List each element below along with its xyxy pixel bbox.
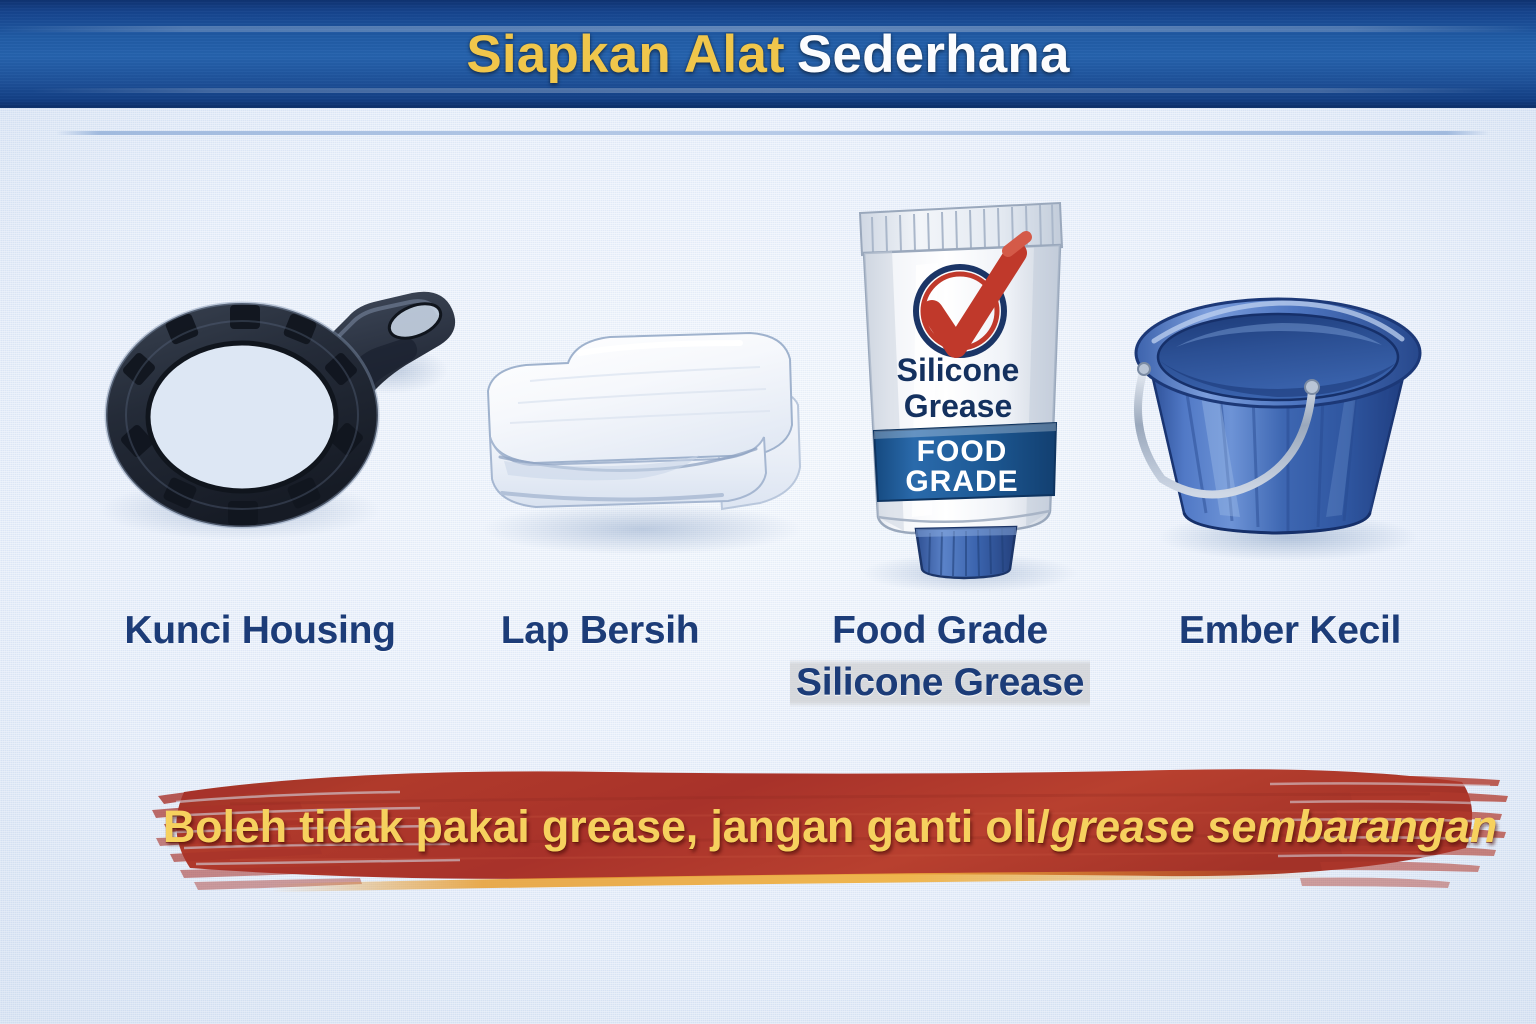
tube-band-line1: FOOD <box>917 435 1008 468</box>
tools-row: Silicone Grease FOOD GRADE <box>0 150 1536 610</box>
tube-brand-line2: Grease <box>904 388 1013 424</box>
banner-text-upright: Boleh tidak pakai grease, jangan ganti o… <box>163 801 1050 853</box>
bucket-icon <box>1120 265 1440 570</box>
tool-item-ember-kecil <box>1110 150 1470 610</box>
folded-towel-icon <box>460 297 820 562</box>
label-kunci-housing-line1: Kunci Housing <box>124 609 395 652</box>
grease-tube-icon: Silicone Grease FOOD GRADE <box>820 195 1120 600</box>
label-lap-bersih-line1: Lap Bersih <box>501 609 700 652</box>
label-grease-line2: Silicone Grease <box>790 657 1090 709</box>
header-bar: Siapkan Alat Sederhana <box>0 0 1536 108</box>
tube-brand-line1: Silicone <box>897 352 1020 388</box>
page-title-white: Sederhana <box>797 24 1070 85</box>
label-ember-kecil: Ember Kecil <box>1140 605 1440 657</box>
label-lap-bersih: Lap Bersih <box>450 605 750 657</box>
tube-band-line2: GRADE <box>905 465 1018 498</box>
header-divider-line <box>56 131 1490 135</box>
banner-warning-text: Boleh tidak pakai grease, jangan ganti o… <box>150 752 1510 902</box>
infographic-canvas: Siapkan Alat Sederhana <box>0 0 1536 1024</box>
tool-item-lap-bersih <box>450 150 810 610</box>
tool-item-kunci-housing <box>90 150 450 610</box>
label-kunci-housing: Kunci Housing <box>110 605 410 657</box>
label-grease-line1: Food Grade <box>832 609 1048 652</box>
page-title-gold: Siapkan Alat <box>466 24 785 85</box>
page-title: Siapkan Alat Sederhana <box>0 0 1536 108</box>
banner-text-italic: grease sembarangan <box>1051 801 1498 853</box>
warning-banner: Boleh tidak pakai grease, jangan ganti o… <box>150 752 1510 902</box>
label-ember-kecil-line1: Ember Kecil <box>1179 609 1401 652</box>
housing-wrench-icon <box>90 265 470 570</box>
label-food-grade-silicone-grease: Food Grade Silicone Grease <box>790 605 1090 709</box>
